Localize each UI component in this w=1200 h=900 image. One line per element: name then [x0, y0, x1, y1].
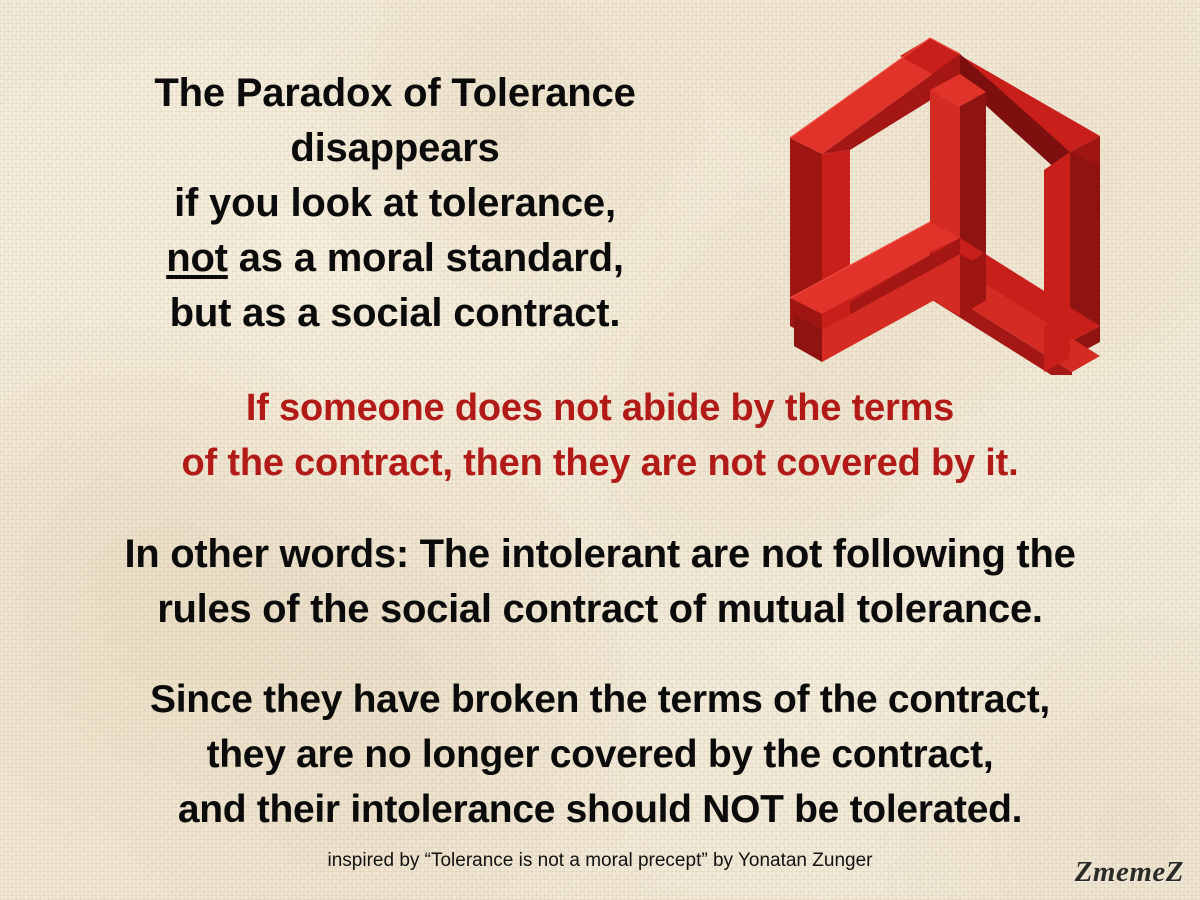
- intro-line-1: The Paradox of Tolerance: [0, 66, 790, 121]
- intro-line-3: if you look at tolerance,: [0, 176, 790, 231]
- red-line-2: of the contract, then they are not cover…: [0, 436, 1200, 491]
- impossible-cube-icon: [782, 30, 1112, 375]
- conclusion-block: Since they have broken the terms of the …: [0, 672, 1200, 837]
- restatement-line-2: rules of the social contract of mutual t…: [0, 582, 1200, 637]
- intro-text-block: The Paradox of Tolerance disappears if y…: [0, 66, 790, 341]
- attribution-text: inspired by “Tolerance is not a moral pr…: [0, 850, 1200, 872]
- red-statement-block: If someone does not abide by the terms o…: [0, 381, 1200, 491]
- intro-line-5: but as a social contract.: [0, 286, 790, 341]
- conclusion-line-1: Since they have broken the terms of the …: [0, 672, 1200, 727]
- underlined-not: not: [166, 236, 228, 280]
- intro-line-emphasis: not as a moral standard,: [0, 231, 790, 286]
- intro-line-2: disappears: [0, 121, 790, 176]
- conclusion-line-2: they are no longer covered by the contra…: [0, 727, 1200, 782]
- meme-canvas: The Paradox of Tolerance disappears if y…: [0, 0, 1200, 900]
- watermark-logo: ZmemeZ: [1075, 856, 1184, 889]
- restatement-block: In other words: The intolerant are not f…: [0, 527, 1200, 637]
- conclusion-line-3: and their intolerance should NOT be tole…: [0, 782, 1200, 837]
- red-line-1: If someone does not abide by the terms: [0, 381, 1200, 436]
- meme-content: The Paradox of Tolerance disappears if y…: [0, 0, 1200, 900]
- restatement-line-1: In other words: The intolerant are not f…: [0, 527, 1200, 582]
- emphasis-rest: as a moral standard,: [228, 236, 624, 280]
